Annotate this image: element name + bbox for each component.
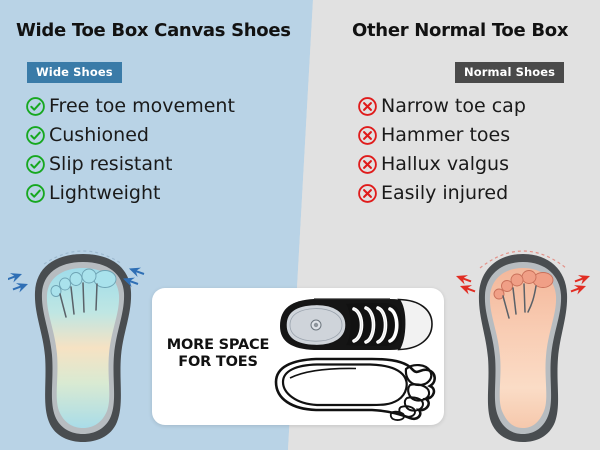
foot-outline-top-view: [276, 359, 435, 420]
left-panel-heading: Wide Toe Box Canvas Shoes: [16, 20, 291, 41]
list-item: Easily injured: [357, 179, 526, 208]
card-caption-line-1: MORE SPACE: [165, 337, 271, 354]
x-circle-icon: [357, 183, 378, 204]
list-item: Cushioned: [25, 121, 235, 150]
drawbacks-list: Narrow toe cap Hammer toes Hallux valgus…: [357, 92, 526, 208]
list-item-label: Hammer toes: [381, 126, 510, 145]
canvas-sneaker-top-view: [280, 299, 432, 350]
check-circle-icon: [25, 96, 46, 117]
list-item-label: Narrow toe cap: [381, 97, 526, 116]
list-item: Hammer toes: [357, 121, 526, 150]
list-item-label: Free toe movement: [49, 97, 235, 116]
x-circle-icon: [357, 154, 378, 175]
infographic-canvas: Wide Toe Box Canvas Shoes Other Normal T…: [0, 0, 600, 450]
check-circle-icon: [25, 183, 46, 204]
list-item: Hallux valgus: [357, 150, 526, 179]
list-item: Lightweight: [25, 179, 235, 208]
list-item: Slip resistant: [25, 150, 235, 179]
list-item-label: Hallux valgus: [381, 155, 509, 174]
x-circle-icon: [357, 96, 378, 117]
list-item: Narrow toe cap: [357, 92, 526, 121]
list-item-label: Slip resistant: [49, 155, 172, 174]
normal-shoes-badge: Normal Shoes: [455, 62, 564, 83]
card-artwork: [260, 290, 442, 423]
list-item-label: Cushioned: [49, 126, 149, 145]
right-panel-heading: Other Normal Toe Box: [352, 20, 568, 41]
check-circle-icon: [25, 125, 46, 146]
card-caption-line-2: FOR TOES: [165, 354, 271, 371]
wide-shoes-badge: Wide Shoes: [27, 62, 122, 83]
benefits-list: Free toe movement Cushioned Slip resista…: [25, 92, 235, 208]
narrow-toe-box-foot-illustration: [448, 232, 598, 450]
list-item-label: Lightweight: [49, 184, 160, 203]
more-space-callout-card: MORE SPACE FOR TOES: [152, 288, 444, 425]
x-circle-icon: [357, 125, 378, 146]
wide-toe-box-foot-illustration: [8, 232, 158, 450]
card-caption: MORE SPACE FOR TOES: [165, 337, 271, 371]
list-item: Free toe movement: [25, 92, 235, 121]
check-circle-icon: [25, 154, 46, 175]
list-item-label: Easily injured: [381, 184, 508, 203]
